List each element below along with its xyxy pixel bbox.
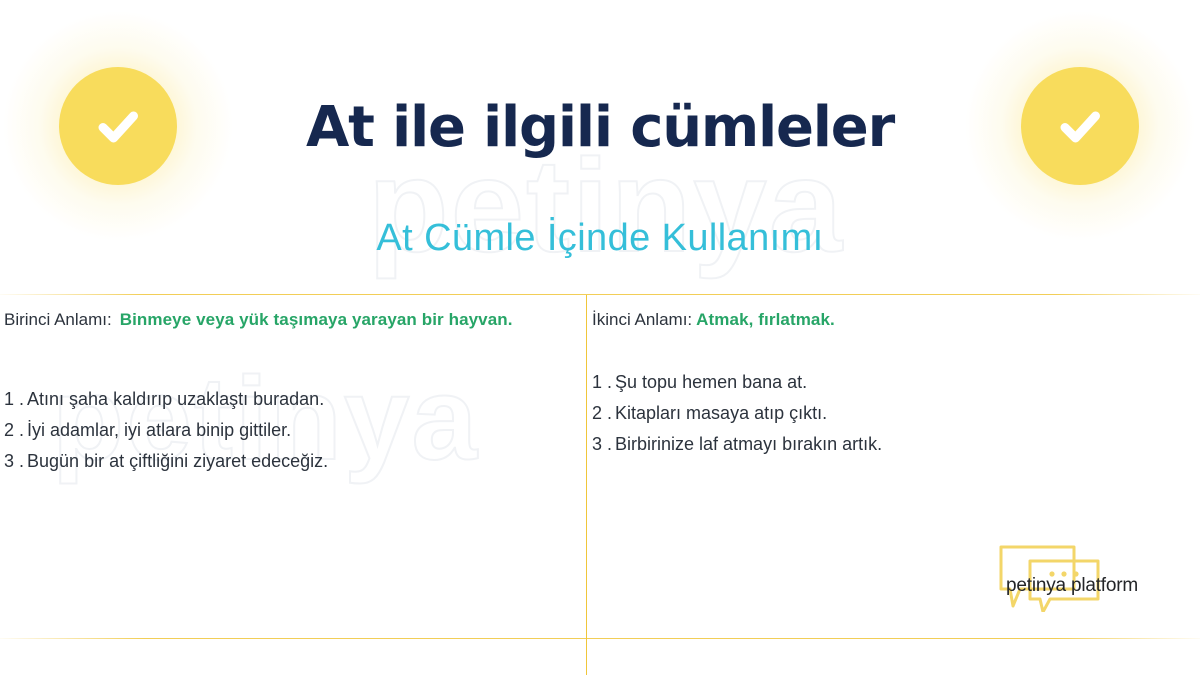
list-item-text: Bugün bir at çiftliğini ziyaret edeceğiz… (27, 451, 328, 471)
divider-top (0, 294, 1200, 295)
list-item: 1 .Atını şaha kaldırıp uzaklaştı buradan… (4, 384, 574, 415)
divider-bottom (0, 638, 1200, 639)
list-item-number: 3 . (592, 434, 612, 454)
first-meaning-sentence-list: 1 .Atını şaha kaldırıp uzaklaştı buradan… (4, 384, 574, 477)
second-meaning-label: İkinci Anlamı: (592, 310, 692, 329)
list-item-text: Atını şaha kaldırıp uzaklaştı buradan. (27, 389, 324, 409)
list-item: 2 .İyi adamlar, iyi atlara binip gittile… (4, 415, 574, 446)
brand-logo-text: petinya platform (1006, 575, 1138, 597)
list-item-number: 2 . (592, 403, 612, 423)
second-meaning-sentence-list: 1 .Şu topu hemen bana at. 2 .Kitapları m… (592, 367, 1188, 460)
list-item-number: 1 . (4, 389, 24, 409)
first-meaning-label: Birinci Anlamı: (4, 310, 112, 329)
list-item-text: İyi adamlar, iyi atlara binip gittiler. (27, 420, 291, 440)
page-title: At ile ilgili cümleler (0, 96, 1200, 160)
list-item-text: Birbirinize laf atmayı bırakın artık. (615, 434, 882, 454)
column-second-meaning: İkinci Anlamı:Atmak, fırlatmak. 1 .Şu to… (592, 306, 1188, 460)
list-item: 2 .Kitapları masaya atıp çıktı. (592, 398, 1188, 429)
first-meaning-value: Binmeye veya yük taşımaya yarayan bir ha… (120, 310, 513, 329)
list-item: 1 .Şu topu hemen bana at. (592, 367, 1188, 398)
column-first-meaning: Birinci Anlamı:Binmeye veya yük taşımaya… (4, 306, 574, 477)
list-item-text: Şu topu hemen bana at. (615, 372, 807, 392)
second-meaning-value: Atmak, fırlatmak. (696, 310, 835, 329)
brand-logo[interactable]: petinya platform (998, 544, 1170, 612)
list-item-number: 1 . (592, 372, 612, 392)
list-item: 3 .Birbirinize laf atmayı bırakın artık. (592, 429, 1188, 460)
list-item: 3 .Bugün bir at çiftliğini ziyaret edece… (4, 446, 574, 477)
list-item-number: 3 . (4, 451, 24, 471)
divider-vertical (586, 295, 587, 675)
first-meaning-heading: Birinci Anlamı:Binmeye veya yük taşımaya… (4, 306, 574, 334)
list-item-text: Kitapları masaya atıp çıktı. (615, 403, 827, 423)
list-item-number: 2 . (4, 420, 24, 440)
page-subtitle: At Cümle İçinde Kullanımı (0, 214, 1200, 262)
second-meaning-heading: İkinci Anlamı:Atmak, fırlatmak. (592, 306, 1188, 334)
slide-canvas: petinya petinya At ile ilgili cümleler A… (0, 0, 1200, 675)
